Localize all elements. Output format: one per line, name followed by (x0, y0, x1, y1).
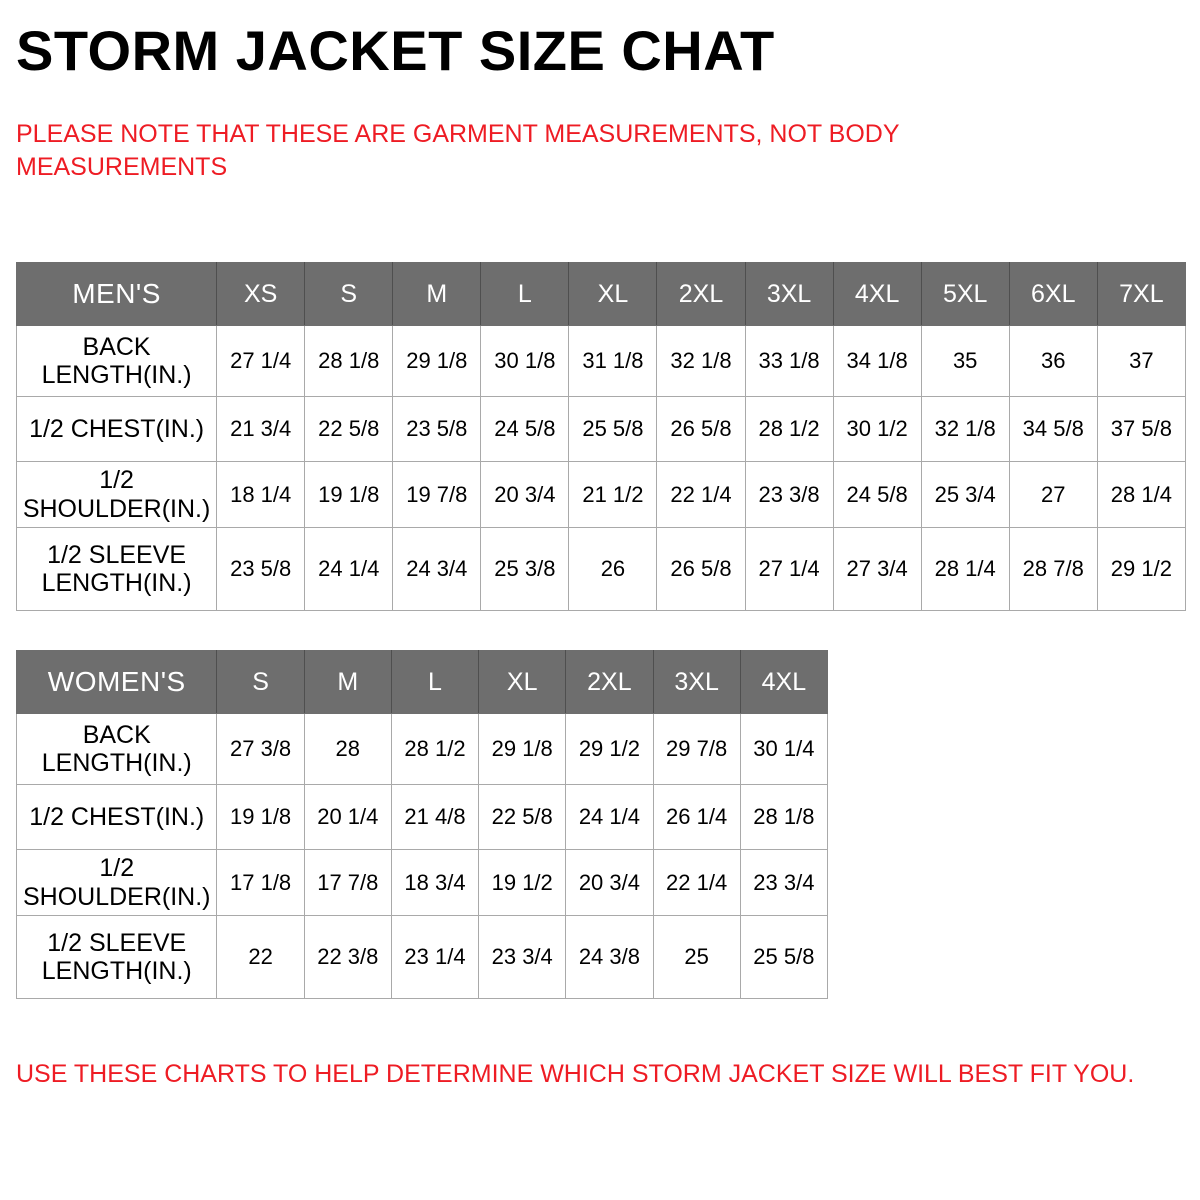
table-row: 1/2 SLEEVELENGTH(IN.)23 5/824 1/424 3/42… (17, 528, 1186, 611)
measurement-label-line2: LENGTH(IN.) (19, 749, 214, 778)
womens-size-header-3xl: 3XL (653, 651, 740, 714)
mens-size-header-4xl: 4XL (833, 263, 921, 326)
womens-measurement-label: BACKLENGTH(IN.) (17, 714, 217, 785)
womens-size-header-m: M (304, 651, 391, 714)
measurement-cell: 22 1/4 (653, 850, 740, 916)
measurement-cell: 22 3/8 (304, 916, 391, 999)
measurement-cell: 26 5/8 (657, 528, 745, 611)
womens-header-row: WOMEN'SSMLXL2XL3XL4XL (17, 651, 828, 714)
measurement-cell: 19 1/8 (217, 785, 304, 850)
measurement-label-line2: LENGTH(IN.) (19, 957, 214, 986)
measurement-cell: 23 3/4 (479, 916, 566, 999)
table-row: 1/2 SHOULDER(IN.)17 1/817 7/818 3/419 1/… (17, 850, 828, 916)
measurement-cell: 28 1/4 (1097, 462, 1185, 528)
measurement-cell: 27 1/4 (217, 326, 305, 397)
table-row: BACKLENGTH(IN.)27 3/82828 1/229 1/829 1/… (17, 714, 828, 785)
measurement-cell: 23 3/8 (745, 462, 833, 528)
mens-size-header-6xl: 6XL (1009, 263, 1097, 326)
mens-measurement-label: 1/2 SHOULDER(IN.) (17, 462, 217, 528)
measurement-cell: 20 3/4 (566, 850, 653, 916)
mens-size-header-xl: XL (569, 263, 657, 326)
measurement-cell: 22 5/8 (479, 785, 566, 850)
mens-table-body: BACKLENGTH(IN.)27 1/428 1/829 1/830 1/83… (17, 326, 1186, 611)
measurement-cell: 29 1/8 (393, 326, 481, 397)
womens-size-header-s: S (217, 651, 304, 714)
measurement-label-line1: 1/2 SLEEVE (19, 541, 214, 570)
measurement-cell: 27 (1009, 462, 1097, 528)
womens-table-header: WOMEN'SSMLXL2XL3XL4XL (17, 651, 828, 714)
mens-size-header-xs: XS (217, 263, 305, 326)
measurement-cell: 29 1/2 (1097, 528, 1185, 611)
measurement-cell: 35 (921, 326, 1009, 397)
measurement-cell: 24 1/4 (566, 785, 653, 850)
measurement-cell: 17 7/8 (304, 850, 391, 916)
measurement-cell: 34 5/8 (1009, 397, 1097, 462)
measurement-label-line2: LENGTH(IN.) (19, 569, 214, 598)
measurement-cell: 26 1/4 (653, 785, 740, 850)
mens-size-header-5xl: 5XL (921, 263, 1009, 326)
measurement-cell: 30 1/8 (481, 326, 569, 397)
measurement-cell: 28 7/8 (1009, 528, 1097, 611)
measurement-cell: 24 5/8 (481, 397, 569, 462)
mens-table-header: MEN'SXSSMLXL2XL3XL4XL5XL6XL7XL (17, 263, 1186, 326)
measurement-cell: 30 1/4 (740, 714, 827, 785)
measurement-cell: 24 3/4 (393, 528, 481, 611)
mens-size-table: MEN'SXSSMLXL2XL3XL4XL5XL6XL7XL BACKLENGT… (16, 262, 1186, 611)
measurement-cell: 24 3/8 (566, 916, 653, 999)
measurement-label-line1: BACK (19, 721, 214, 750)
measurement-cell: 25 5/8 (569, 397, 657, 462)
measurement-cell: 25 3/8 (481, 528, 569, 611)
womens-measurement-label: 1/2 SLEEVELENGTH(IN.) (17, 916, 217, 999)
mens-size-header-7xl: 7XL (1097, 263, 1185, 326)
measurement-cell: 28 1/8 (305, 326, 393, 397)
measurement-cell: 17 1/8 (217, 850, 304, 916)
measurement-cell: 36 (1009, 326, 1097, 397)
measurement-cell: 22 1/4 (657, 462, 745, 528)
measurement-cell: 19 1/2 (479, 850, 566, 916)
table-row: BACKLENGTH(IN.)27 1/428 1/829 1/830 1/83… (17, 326, 1186, 397)
table-row: 1/2 SLEEVELENGTH(IN.)2222 3/823 1/423 3/… (17, 916, 828, 999)
measurement-cell: 23 5/8 (393, 397, 481, 462)
measurement-cell: 18 3/4 (391, 850, 478, 916)
table-row: 1/2 CHEST(IN.)21 3/422 5/823 5/824 5/825… (17, 397, 1186, 462)
mens-size-header-s: S (305, 263, 393, 326)
womens-size-header-l: L (391, 651, 478, 714)
measurement-cell: 26 5/8 (657, 397, 745, 462)
measurement-cell: 37 5/8 (1097, 397, 1185, 462)
measurement-cell: 28 1/4 (921, 528, 1009, 611)
measurement-cell: 27 1/4 (745, 528, 833, 611)
measurement-cell: 37 (1097, 326, 1185, 397)
womens-size-header-4xl: 4XL (740, 651, 827, 714)
measurement-cell: 29 1/8 (479, 714, 566, 785)
measurement-cell: 23 1/4 (391, 916, 478, 999)
measurement-cell: 20 3/4 (481, 462, 569, 528)
measurement-cell: 29 1/2 (566, 714, 653, 785)
measurement-cell: 23 5/8 (217, 528, 305, 611)
mens-measurement-label: 1/2 CHEST(IN.) (17, 397, 217, 462)
measurement-cell: 19 1/8 (305, 462, 393, 528)
measurement-cell: 26 (569, 528, 657, 611)
mens-measurement-label: BACKLENGTH(IN.) (17, 326, 217, 397)
womens-size-table: WOMEN'SSMLXL2XL3XL4XL BACKLENGTH(IN.)27 … (16, 650, 828, 999)
measurement-cell: 28 1/2 (391, 714, 478, 785)
footer-note: USE THESE CHARTS TO HELP DETERMINE WHICH… (16, 1058, 1166, 1091)
measurement-cell: 28 1/8 (740, 785, 827, 850)
womens-table-body: BACKLENGTH(IN.)27 3/82828 1/229 1/829 1/… (17, 714, 828, 999)
measurement-cell: 29 7/8 (653, 714, 740, 785)
womens-size-header-xl: XL (479, 651, 566, 714)
measurement-cell: 32 1/8 (921, 397, 1009, 462)
measurement-cell: 22 5/8 (305, 397, 393, 462)
table-row: 1/2 SHOULDER(IN.)18 1/419 1/819 7/820 3/… (17, 462, 1186, 528)
measurement-cell: 33 1/8 (745, 326, 833, 397)
measurement-cell: 23 3/4 (740, 850, 827, 916)
womens-measurement-label: 1/2 CHEST(IN.) (17, 785, 217, 850)
measurement-cell: 21 3/4 (217, 397, 305, 462)
measurement-cell: 21 4/8 (391, 785, 478, 850)
measurement-cell: 28 1/2 (745, 397, 833, 462)
measurement-cell: 27 3/8 (217, 714, 304, 785)
measurement-cell: 25 (653, 916, 740, 999)
measurement-cell: 19 7/8 (393, 462, 481, 528)
womens-corner-label: WOMEN'S (17, 651, 217, 714)
mens-size-header-3xl: 3XL (745, 263, 833, 326)
measurement-cell: 18 1/4 (217, 462, 305, 528)
table-row: 1/2 CHEST(IN.)19 1/820 1/421 4/822 5/824… (17, 785, 828, 850)
measurement-cell: 34 1/8 (833, 326, 921, 397)
measurement-cell: 32 1/8 (657, 326, 745, 397)
measurement-cell: 27 3/4 (833, 528, 921, 611)
measurement-label-line1: 1/2 SLEEVE (19, 929, 214, 958)
measurement-label-line1: BACK (19, 333, 214, 362)
mens-measurement-label: 1/2 SLEEVELENGTH(IN.) (17, 528, 217, 611)
measurement-cell: 25 3/4 (921, 462, 1009, 528)
measurement-cell: 24 5/8 (833, 462, 921, 528)
womens-measurement-label: 1/2 SHOULDER(IN.) (17, 850, 217, 916)
measurement-cell: 31 1/8 (569, 326, 657, 397)
mens-size-header-m: M (393, 263, 481, 326)
mens-size-header-l: L (481, 263, 569, 326)
measurement-cell: 25 5/8 (740, 916, 827, 999)
measurement-cell: 20 1/4 (304, 785, 391, 850)
measurement-label-line2: LENGTH(IN.) (19, 361, 214, 390)
size-chart-page: STORM JACKET SIZE CHAT PLEASE NOTE THAT … (0, 0, 1200, 1200)
measurement-cell: 28 (304, 714, 391, 785)
mens-corner-label: MEN'S (17, 263, 217, 326)
measurement-cell: 21 1/2 (569, 462, 657, 528)
page-title: STORM JACKET SIZE CHAT (16, 22, 775, 79)
measurement-cell: 24 1/4 (305, 528, 393, 611)
mens-size-header-2xl: 2XL (657, 263, 745, 326)
measurement-cell: 22 (217, 916, 304, 999)
garment-measurement-notice: PLEASE NOTE THAT THESE ARE GARMENT MEASU… (16, 118, 1076, 184)
mens-header-row: MEN'SXSSMLXL2XL3XL4XL5XL6XL7XL (17, 263, 1186, 326)
womens-size-header-2xl: 2XL (566, 651, 653, 714)
measurement-cell: 30 1/2 (833, 397, 921, 462)
